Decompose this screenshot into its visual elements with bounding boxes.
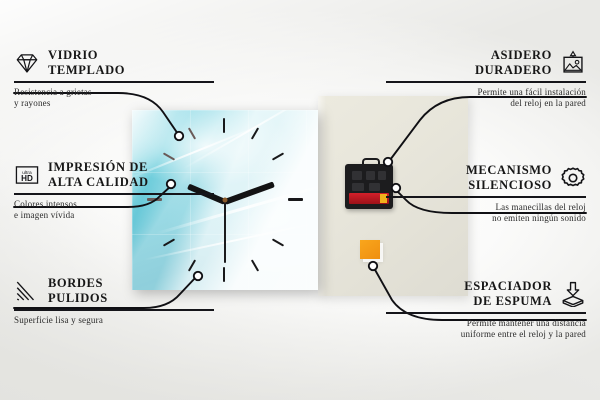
feature-desc-line1: Permite mantener una distancia bbox=[386, 318, 586, 329]
mechanism-detail bbox=[352, 171, 362, 180]
feature-espaciador-de-espuma: ESPACIADOR DE ESPUMA Permite mantener un… bbox=[386, 279, 586, 340]
feature-bordes-pulidos: BORDES PULIDOS Superficie lisa y segura bbox=[14, 276, 214, 326]
feature-desc-line1: Las manecillas del reloj bbox=[386, 202, 586, 213]
mechanism-battery bbox=[349, 193, 389, 204]
feature-title-line2: PULIDOS bbox=[48, 291, 108, 306]
foam-spacer-icon bbox=[560, 281, 586, 307]
mechanism-detail bbox=[369, 183, 380, 191]
feature-title-line1: BORDES bbox=[48, 276, 108, 291]
svg-text:HD: HD bbox=[21, 174, 33, 183]
feature-vidrio-templado: VIDRIO TEMPLADO Resistencia a grietas y … bbox=[14, 48, 214, 109]
feature-title-line2: DE ESPUMA bbox=[464, 294, 552, 309]
feature-desc-line1: Superficie lisa y segura bbox=[14, 315, 214, 326]
feature-desc-line1: Colores intensos bbox=[14, 199, 214, 210]
feature-desc-line2: no emiten ningún sonido bbox=[386, 213, 586, 224]
feature-title-line1: IMPRESIÓN DE bbox=[48, 160, 149, 175]
feature-divider bbox=[386, 81, 586, 83]
hour-tick bbox=[223, 267, 225, 282]
feature-desc-line2: e imagen vívida bbox=[14, 210, 214, 221]
diamond-icon bbox=[14, 50, 40, 76]
feature-title-line1: ESPACIADOR bbox=[464, 279, 552, 294]
mechanism-detail bbox=[366, 171, 375, 180]
feature-title-line2: ALTA CALIDAD bbox=[48, 175, 149, 190]
feature-desc-line2: y rayones bbox=[14, 98, 214, 109]
feature-title-line1: MECANISMO bbox=[466, 163, 552, 178]
feature-asidero-duradero: ASIDERO DURADERO Permite una fácil insta… bbox=[386, 48, 586, 109]
mechanism-detail bbox=[378, 171, 386, 180]
feature-divider bbox=[386, 196, 586, 198]
clock-center-pin bbox=[223, 198, 228, 203]
feature-title-line2: SILENCIOSO bbox=[466, 178, 552, 193]
hour-tick bbox=[288, 198, 303, 201]
feature-mecanismo-silencioso: MECANISMO SILENCIOSO Las manecillas del … bbox=[386, 163, 586, 224]
feature-title-line1: VIDRIO bbox=[48, 48, 125, 63]
feature-divider bbox=[14, 193, 214, 195]
feature-desc-line2: del reloj en la pared bbox=[386, 98, 586, 109]
mechanism-detail bbox=[352, 183, 364, 191]
second-hand bbox=[224, 201, 226, 263]
infographic-canvas: VIDRIO TEMPLADO Resistencia a grietas y … bbox=[0, 0, 600, 400]
feature-desc-line2: uniforme entre el reloj y la pared bbox=[386, 329, 586, 340]
ultra-hd-icon: ultra HD bbox=[14, 162, 40, 188]
feature-desc-line1: Resistencia a grietas bbox=[14, 87, 214, 98]
polished-edge-icon bbox=[14, 278, 40, 304]
feature-divider bbox=[386, 312, 586, 314]
feature-desc-line1: Permite una fácil instalación bbox=[386, 87, 586, 98]
gear-icon bbox=[560, 165, 586, 191]
feature-divider bbox=[14, 81, 214, 83]
feature-title-line1: ASIDERO bbox=[475, 48, 552, 63]
feature-title-line2: TEMPLADO bbox=[48, 63, 125, 78]
foam-spacer-sample bbox=[360, 240, 380, 259]
feature-impresion-alta-calidad: ultra HD IMPRESIÓN DE ALTA CALIDAD Color… bbox=[14, 160, 214, 221]
picture-hanger-icon bbox=[560, 50, 586, 76]
feature-title-line2: DURADERO bbox=[475, 63, 552, 78]
feature-divider bbox=[14, 309, 214, 311]
hour-tick bbox=[223, 118, 225, 133]
